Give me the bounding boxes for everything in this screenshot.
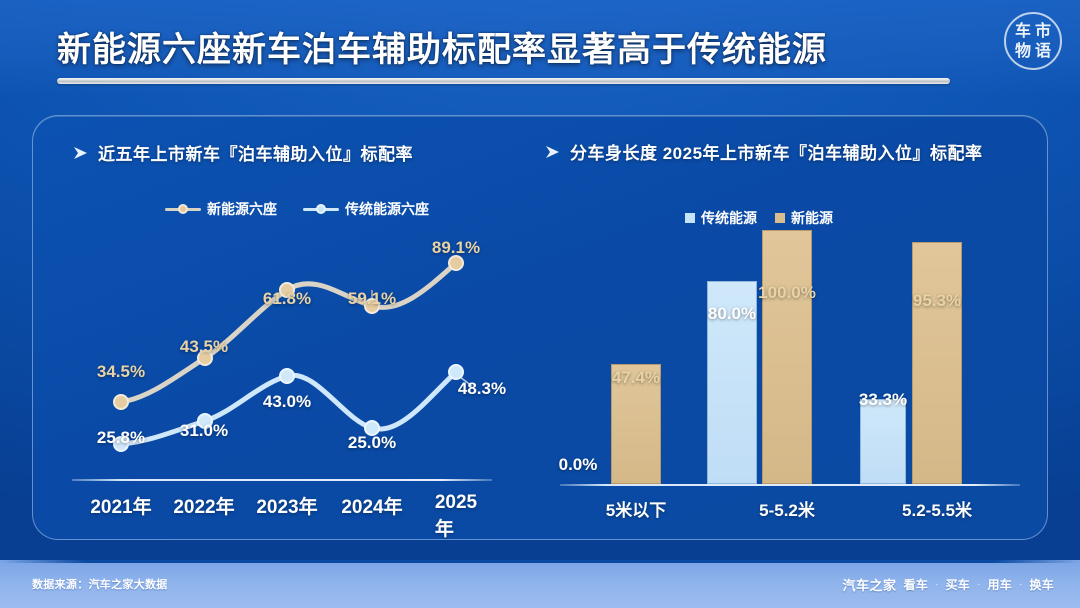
bar-new-energy-5-5.2m[interactable] — [762, 230, 812, 484]
footer-nav-huanche[interactable]: 换车 — [1029, 576, 1054, 593]
data-point — [449, 365, 463, 379]
data-point — [280, 369, 294, 383]
bar-label-traditional-5-5.2m: 80.0% — [708, 304, 756, 324]
bar-traditional-5.2-5.5m[interactable] — [860, 399, 906, 484]
right-chart-title-text: 分车身长度 2025年上市新车『泊车辅助入位』标配率 — [570, 139, 983, 164]
right-chart-title: 分车身长度 2025年上市新车『泊车辅助入位』标配率 — [545, 139, 983, 164]
footer: 数据来源：汽车之家大数据 汽车之家 看车 · 买车 · 用车 · 换车 — [0, 563, 1080, 608]
bar-label-traditional-5.2-5.5m: 33.3% — [859, 390, 907, 410]
data-point — [449, 256, 463, 270]
bar-label-new-energy-5-5.2m: 100.0% — [758, 283, 816, 303]
bar-label-new-energy-under-5m: 47.4% — [612, 368, 660, 388]
data-label-new-energy-2022: 43.5% — [180, 337, 228, 357]
legend-label: 新能源 — [791, 208, 833, 228]
footer-brand: 汽车之家 — [843, 575, 897, 594]
data-label-new-energy-2025: 89.1% — [432, 238, 480, 258]
x-label-2024: 2024年 — [341, 492, 402, 519]
footer-nav-yongche[interactable]: 用车 — [987, 576, 1012, 593]
x-label-2023: 2023年 — [256, 492, 317, 519]
data-label-new-energy-2024: 59.1% — [348, 289, 396, 309]
data-label-new-energy-2021: 34.5% — [97, 362, 145, 382]
right-chart-axis — [560, 484, 1020, 486]
x-label-5-5.2m: 5-5.2米 — [759, 496, 815, 521]
legend-label: 传统能源 — [701, 208, 757, 228]
footer-brand-nav: 汽车之家 看车 · 买车 · 用车 · 换车 — [843, 575, 1054, 594]
line-marker-icon — [165, 203, 201, 215]
arrow-right-icon — [73, 146, 88, 160]
legend-swatch-icon — [775, 213, 785, 223]
legend-label: 传统能源六座 — [345, 199, 429, 219]
legend-swatch-icon — [685, 213, 695, 223]
footer-separator-dot: · — [935, 579, 938, 590]
right-chart-legend: 传统能源 新能源 — [685, 208, 833, 228]
legend-item-traditional-energy[interactable]: 传统能源 — [685, 208, 757, 228]
x-label-2022: 2022年 — [173, 492, 234, 519]
left-chart-title: 近五年上市新车『泊车辅助入位』标配率 — [73, 140, 413, 165]
legend-label: 新能源六座 — [207, 199, 277, 219]
legend-item-traditional-energy[interactable]: 传统能源六座 — [303, 199, 429, 219]
left-chart-legend: 新能源六座 传统能源六座 — [165, 199, 429, 219]
data-point — [114, 395, 128, 409]
data-label-new-energy-2023: 61.8% — [263, 289, 311, 309]
logo-char-3: 物 — [1013, 41, 1033, 61]
page-title: 新能源六座新车泊车辅助标配率显著高于传统能源 — [57, 22, 827, 71]
data-source-text: 数据来源：汽车之家大数据 — [32, 576, 168, 592]
left-chart-title-text: 近五年上市新车『泊车辅助入位』标配率 — [98, 140, 413, 165]
bar-label-new-energy-5.2-5.5m: 95.3% — [913, 291, 961, 311]
arrow-right-icon — [545, 145, 560, 159]
footer-nav-kanche[interactable]: 看车 — [904, 576, 929, 593]
bar-new-energy-5.2-5.5m[interactable] — [912, 242, 962, 484]
logo-char-1: 车 — [1013, 21, 1033, 41]
footer-nav-maiche[interactable]: 买车 — [945, 576, 970, 593]
data-label-traditional-2022: 31.0% — [180, 421, 228, 441]
line-marker-icon — [303, 203, 339, 215]
logo-char-4: 语 — [1033, 41, 1053, 61]
footer-separator-dot: · — [977, 579, 980, 590]
legend-item-new-energy[interactable]: 新能源六座 — [165, 199, 277, 219]
logo-char-2: 市 — [1033, 21, 1053, 41]
right-chart-x-labels: 5米以下 5-5.2米 5.2-5.5米 — [540, 496, 1040, 526]
x-label-5.2-5.5m: 5.2-5.5米 — [902, 496, 972, 521]
footer-separator-dot: · — [1019, 579, 1022, 590]
legend-item-new-energy[interactable]: 新能源 — [775, 208, 833, 228]
bar-label-traditional-under-5m: 0.0% — [559, 455, 598, 475]
left-chart-axis — [72, 479, 492, 481]
x-label-2025: 2025年 — [435, 492, 477, 541]
x-label-2021: 2021年 — [90, 492, 151, 519]
x-label-under-5m: 5米以下 — [606, 496, 666, 521]
data-label-traditional-2023: 43.0% — [263, 392, 311, 412]
left-chart-x-labels: 2021年 2022年 2023年 2024年 2025年 — [72, 492, 492, 522]
brand-seal-logo: 车 市 物 语 — [1004, 12, 1062, 70]
data-label-traditional-2021: 25.8% — [97, 428, 145, 448]
data-label-traditional-2024: 25.0% — [348, 433, 396, 453]
header: 新能源六座新车泊车辅助标配率显著高于传统能源 车 市 物 语 — [0, 0, 1080, 98]
data-label-traditional-2025: 48.3% — [458, 379, 506, 399]
title-underline — [57, 78, 950, 84]
